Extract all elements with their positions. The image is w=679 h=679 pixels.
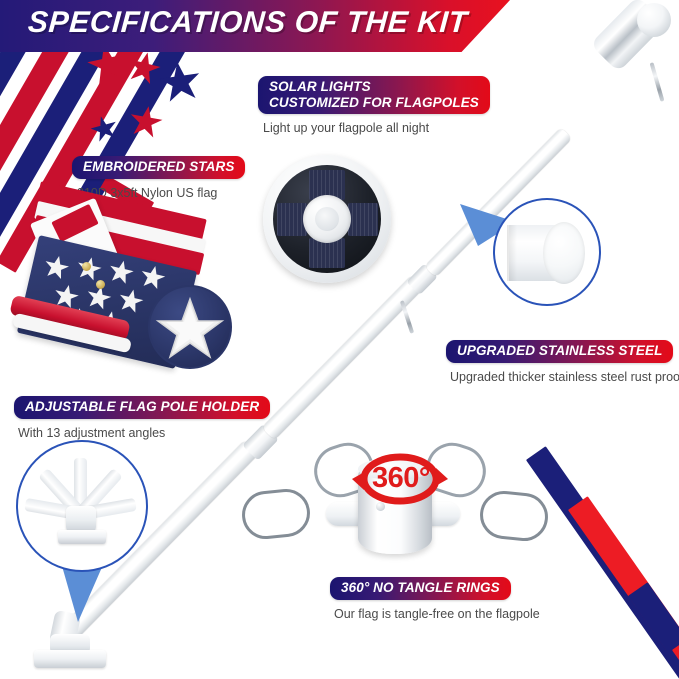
solar-cell	[348, 203, 378, 236]
stainless-ferrule-icon	[493, 198, 601, 306]
callout-solar-lights: SOLAR LIGHTS CUSTOMIZED FOR FLAGPOLES Li…	[258, 76, 490, 135]
callout-label-line: 360° NO TANGLE RINGS	[341, 580, 500, 596]
callout-label-line: CUSTOMIZED FOR FLAGPOLES	[269, 95, 479, 111]
callout-label-line: SOLAR LIGHTS	[269, 79, 479, 95]
bracket-base-plate	[58, 530, 106, 544]
star-icon	[107, 258, 135, 285]
callout-caption-no-tangle-rings: Our flag is tangle-free on the flagpole	[334, 607, 540, 621]
ferrule-edge-highlight	[507, 225, 517, 281]
callout-label-upgraded-stainless-steel: UPGRADED STAINLESS STEEL	[446, 340, 673, 363]
star-icon	[117, 287, 145, 314]
callout-caption-upgraded-stainless-steel: Upgraded thicker stainless steel rust pr…	[450, 370, 679, 384]
no-tangle-rings-icon: 360°	[230, 440, 560, 580]
pole-clip-pin	[650, 62, 665, 102]
pole-ball-finial	[637, 3, 671, 37]
infographic-page: SPECIFICATIONS OF THE KIT SOLAR LIGHTS C…	[0, 0, 679, 679]
callout-label-embroidered-stars: EMBROIDERED STARS	[72, 156, 245, 179]
embroidered-star-icon	[148, 285, 232, 369]
callout-label-line: ADJUSTABLE FLAG POLE HOLDER	[25, 399, 259, 415]
callout-label-no-tangle-rings: 360° NO TANGLE RINGS	[330, 577, 511, 600]
callout-caption-solar-lights: Light up your flagpole all night	[263, 121, 490, 135]
rotation-badge-text: 360°	[366, 462, 436, 495]
ferrule-cap	[543, 222, 585, 284]
bracket-angles-icon	[16, 440, 148, 572]
callout-no-tangle-rings: 360° NO TANGLE RINGS Our flag is tangle-…	[330, 577, 540, 621]
callout-caption-adjustable-flag-pole-holder: With 13 adjustment angles	[18, 426, 270, 440]
star-icon	[42, 253, 70, 280]
callout-adjustable-flag-pole-holder: ADJUSTABLE FLAG POLE HOLDER With 13 adju…	[14, 396, 270, 440]
flag-grommet	[96, 280, 105, 289]
callout-label-solar-lights: SOLAR LIGHTS CUSTOMIZED FOR FLAGPOLES	[258, 76, 490, 114]
star-icon	[150, 287, 230, 367]
carabiner-icon	[478, 489, 551, 544]
solar-panel-icon	[263, 155, 391, 283]
callout-upgraded-stainless-steel: UPGRADED STAINLESS STEEL Upgraded thicke…	[446, 340, 679, 384]
mounting-bracket-base-plate	[34, 650, 106, 668]
pole-mid-segment	[262, 274, 426, 440]
flag-grommet	[82, 262, 91, 271]
carabiner-icon	[240, 487, 313, 542]
callout-label-line: EMBROIDERED STARS	[83, 159, 234, 175]
callout-label-adjustable-flag-pole-holder: ADJUSTABLE FLAG POLE HOLDER	[14, 396, 270, 419]
callout-label-line: UPGRADED STAINLESS STEEL	[457, 343, 662, 359]
star-icon	[139, 263, 167, 290]
solar-center-hole	[315, 207, 339, 231]
callout-embroidered-stars: EMBROIDERED STARS 210D 3x5ft Nylon US fl…	[72, 156, 245, 200]
bracket-hinge-block	[66, 506, 96, 532]
